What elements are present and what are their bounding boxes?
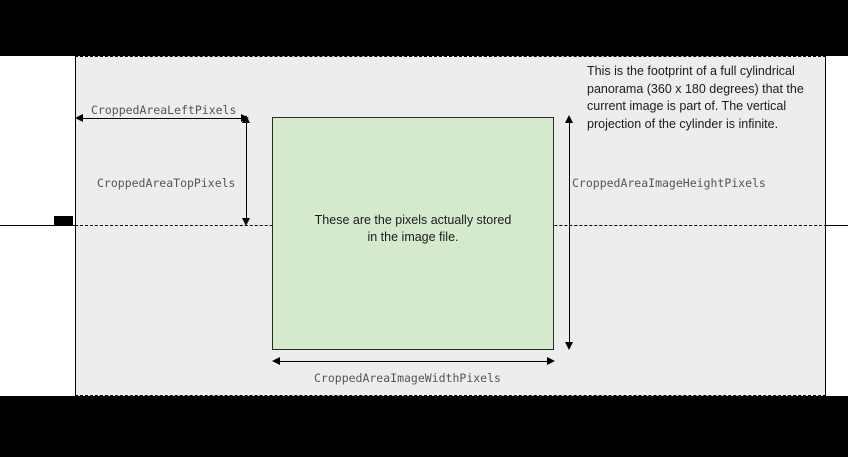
horizon-line-right xyxy=(826,225,848,226)
panorama-description-text: This is the footprint of a full cylindri… xyxy=(587,63,835,133)
label-cropped-area-image-width-pixels: CroppedAreaImageWidthPixels xyxy=(314,371,501,385)
dimension-line-image-height-pixels xyxy=(569,122,570,346)
horizon-marker-block xyxy=(54,216,73,225)
diagram-canvas: These are the pixels actually stored in … xyxy=(0,0,848,457)
stored-image-caption: These are the pixels actually stored in … xyxy=(273,212,553,246)
arrowhead-top-pixels-start xyxy=(242,115,250,123)
dimension-line-image-width-pixels xyxy=(276,361,551,362)
dimension-line-top-pixels xyxy=(246,122,247,222)
horizon-line-left xyxy=(0,225,76,226)
dimension-line-left-pixels xyxy=(79,118,244,119)
letterbox-band-top xyxy=(0,0,848,56)
arrowhead-image-width-end xyxy=(547,357,555,365)
arrowhead-left-pixels-start xyxy=(75,114,83,122)
arrowhead-top-pixels-end xyxy=(242,218,250,226)
label-cropped-area-left-pixels: CroppedAreaLeftPixels xyxy=(91,103,236,117)
arrowhead-image-width-start xyxy=(272,357,280,365)
arrowhead-image-height-start xyxy=(565,115,573,123)
label-cropped-area-top-pixels: CroppedAreaTopPixels xyxy=(97,176,235,190)
letterbox-band-bottom xyxy=(0,396,848,457)
arrowhead-image-height-end xyxy=(565,342,573,350)
label-cropped-area-image-height-pixels: CroppedAreaImageHeightPixels xyxy=(572,176,766,190)
stored-image-rectangle: These are the pixels actually stored in … xyxy=(272,117,554,350)
